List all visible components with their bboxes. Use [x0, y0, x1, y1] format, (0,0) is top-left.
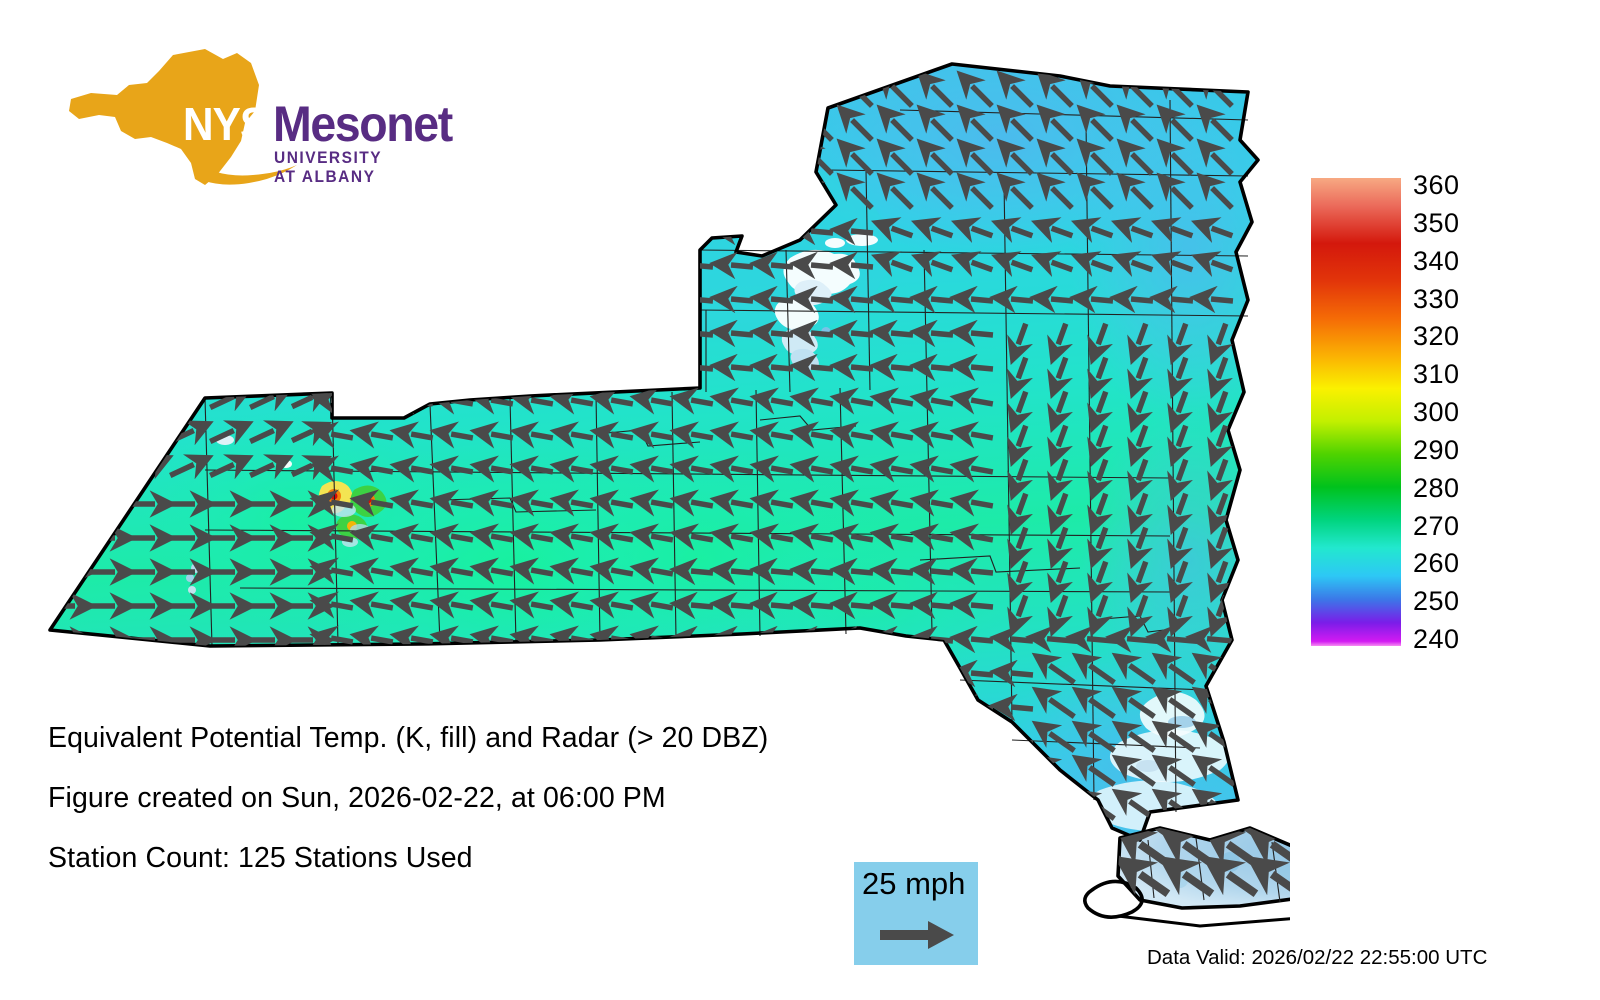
- wind-arrow: [331, 265, 353, 267]
- wind-arrow: [90, 329, 114, 340]
- wind-arrow: [772, 120, 792, 140]
- wind-arrow: [531, 468, 553, 472]
- colorbar-tick-360: 360: [1413, 172, 1460, 199]
- wind-arrow: [451, 333, 473, 335]
- wind-arrow: [612, 120, 632, 140]
- wind-arrow: [90, 227, 114, 238]
- wind-arrow: [691, 468, 713, 472]
- wind-arrow: [451, 434, 473, 438]
- wind-arrow: [371, 774, 393, 778]
- wind-arrow: [289, 192, 314, 204]
- wind-arrow: [572, 120, 592, 140]
- wind-arrow: [971, 502, 993, 506]
- wind-arrow: [451, 672, 473, 676]
- wind-arrow: [611, 265, 633, 267]
- wind-arrow: [371, 638, 393, 642]
- wind-arrow: [411, 468, 433, 472]
- wind-arrow: [531, 400, 553, 404]
- wind-arrow: [170, 227, 194, 238]
- wind-arrow: [531, 299, 553, 301]
- wind-arrow: [492, 120, 512, 140]
- wind-arrow: [371, 604, 393, 608]
- wind-arrow: [451, 706, 473, 710]
- wind-arrow: [891, 809, 913, 811]
- wind-arrow: [331, 536, 353, 540]
- wind-arrow: [811, 639, 833, 641]
- wind-arrow: [891, 502, 913, 506]
- logo-mesonet-text: Mesonet: [273, 95, 452, 153]
- wind-arrow: [691, 809, 713, 811]
- wind-arrow: [571, 299, 593, 301]
- wind-arrow-icon: [880, 918, 956, 952]
- wind-arrow: [491, 265, 513, 267]
- wind-arrow: [891, 333, 913, 335]
- wind-arrow: [1047, 639, 1077, 642]
- wind-arrow: [811, 571, 833, 573]
- wind-arrow: [931, 707, 953, 709]
- wind-arrow: [611, 570, 633, 574]
- wind-arrow: [1211, 299, 1233, 301]
- wind-arrow: [371, 468, 393, 472]
- wind-arrow: [1050, 801, 1075, 818]
- colorbar-tick-labels: 360350340330320310300290280270260250240: [1413, 172, 1533, 654]
- wind-arrow: [130, 363, 154, 374]
- wind-arrow: [130, 465, 154, 476]
- wind-arrow: [891, 639, 913, 641]
- wind-arrow: [611, 333, 633, 335]
- colorbar-tick-250: 250: [1413, 588, 1460, 615]
- wind-arrow: [572, 188, 592, 208]
- wind-arrow: [371, 536, 393, 540]
- wind-arrow: [651, 333, 673, 335]
- wind-arrow: [811, 367, 833, 369]
- colorbar: [1311, 178, 1401, 646]
- wind-arrow: [532, 188, 552, 208]
- wind-arrow: [1011, 639, 1033, 641]
- wind-arrow: [611, 468, 633, 472]
- wind-arrow: [651, 672, 673, 676]
- wind-arrow: [491, 706, 513, 710]
- wind-arrow: [931, 809, 953, 811]
- wind-arrow: [611, 604, 633, 608]
- wind-arrow: [331, 638, 353, 642]
- wind-arrow: [891, 434, 913, 438]
- wind-arrow: [731, 468, 753, 472]
- wind-arrow: [292, 227, 312, 236]
- wind-arrow: [652, 86, 672, 106]
- colorbar-tick-260: 260: [1413, 550, 1460, 577]
- wind-arrow: [731, 673, 753, 675]
- wind-arrow: [851, 502, 873, 506]
- wind-arrow: [249, 192, 274, 204]
- wind-arrow: [371, 706, 393, 710]
- wind-arrow: [971, 639, 993, 641]
- wind-arrow: [691, 299, 713, 301]
- wind-arrow: [771, 468, 793, 472]
- wind-arrow: [331, 774, 353, 778]
- wind-arrow: [731, 299, 753, 301]
- wind-arrow: [851, 333, 873, 335]
- wind-arrow: [250, 227, 274, 238]
- wind-arrow: [130, 431, 154, 442]
- wind-arrow: [691, 571, 713, 573]
- wind-arrow: [90, 431, 114, 442]
- wind-arrow: [851, 809, 873, 811]
- wind-arrow: [411, 706, 433, 710]
- wind-arrow: [1011, 775, 1033, 777]
- wind-arrow: [331, 468, 353, 472]
- wind-arrow: [491, 333, 513, 335]
- wind-arrow: [651, 299, 673, 301]
- wind-arrow: [851, 639, 873, 641]
- wind-arrow: [812, 86, 832, 106]
- wind-arrow: [451, 299, 473, 301]
- wind-arrow: [531, 231, 553, 233]
- wind-arrow: [1011, 707, 1033, 709]
- wind-arrow: [891, 741, 913, 743]
- wind-arrow: [611, 536, 633, 540]
- wind-arrow: [691, 231, 713, 233]
- wind-arrow: [931, 299, 953, 301]
- wind-arrow: [210, 329, 234, 340]
- wind-arrow: [731, 775, 753, 777]
- wind-arrow: [130, 227, 154, 238]
- wind-arrow: [331, 400, 353, 404]
- wind-arrow: [571, 604, 593, 608]
- wind-arrow: [1171, 299, 1193, 301]
- nys-mesonet-logo: NYS Mesonet UNIVERSITY AT ALBANY: [55, 45, 400, 185]
- colorbar-tick-300: 300: [1413, 399, 1460, 426]
- wind-arrow: [651, 367, 673, 369]
- wind-arrow: [971, 536, 993, 540]
- wind-arrow: [571, 400, 593, 404]
- wind-arrow: [771, 707, 793, 709]
- wind-speed-legend: 25 mph: [854, 862, 978, 965]
- wind-arrow: [250, 295, 274, 306]
- wind-arrow: [691, 400, 713, 404]
- wind-arrow: [452, 154, 472, 174]
- wind-arrow: [691, 265, 713, 267]
- wind-arrow: [771, 741, 793, 743]
- wind-arrow: [492, 154, 512, 174]
- wind-arrow: [931, 333, 953, 335]
- wind-arrow: [451, 570, 473, 574]
- wind-arrow: [811, 231, 833, 233]
- wind-arrow: [250, 363, 274, 374]
- wind-arrow: [90, 295, 114, 306]
- wind-arrow: [50, 431, 74, 442]
- wind-arrow: [851, 400, 873, 404]
- colorbar-tick-270: 270: [1413, 513, 1460, 540]
- wind-arrow: [771, 502, 793, 506]
- wind-arrow: [771, 673, 793, 675]
- wind-arrow: [971, 775, 993, 777]
- wind-arrow: [771, 775, 793, 777]
- wind-arrow: [1167, 639, 1197, 642]
- wind-arrow: [571, 570, 593, 574]
- wind-arrow: [971, 434, 993, 438]
- wind-arrow: [491, 434, 513, 438]
- colorbar-gradient: [1311, 178, 1401, 646]
- wind-arrow: [371, 367, 393, 369]
- wind-arrow: [1091, 299, 1113, 301]
- wind-arrow: [771, 434, 793, 438]
- wind-arrow: [451, 231, 473, 233]
- wind-arrow: [451, 536, 473, 540]
- wind-arrow: [1131, 299, 1153, 301]
- wind-arrow: [612, 86, 632, 106]
- wind-arrow: [491, 502, 513, 506]
- wind-arrow: [1011, 809, 1033, 811]
- wind-arrow: [491, 774, 513, 778]
- wind-arrow: [652, 188, 672, 208]
- wind-arrow: [691, 367, 713, 369]
- wind-arrow: [891, 605, 913, 607]
- wind-arrow: [611, 672, 633, 676]
- wind-arrow: [130, 329, 154, 340]
- wind-arrow: [531, 706, 553, 710]
- wind-arrow: [931, 434, 953, 438]
- wind-arrow: [331, 570, 353, 574]
- wind-arrow: [90, 363, 114, 374]
- wind-arrow: [371, 672, 393, 676]
- wind-arrow: [891, 468, 913, 472]
- wind-arrow: [651, 231, 673, 233]
- wind-arrow: [851, 741, 873, 743]
- wind-arrow: [851, 673, 873, 675]
- wind-arrow: [732, 86, 752, 106]
- wind-arrow: [571, 231, 593, 233]
- wind-arrow: [50, 295, 74, 306]
- wind-arrow: [572, 154, 592, 174]
- wind-arrow: [1272, 814, 1290, 834]
- wind-arrow: [491, 604, 513, 608]
- wind-arrow: [331, 333, 353, 335]
- wind-arrow: [931, 775, 953, 777]
- wind-arrow: [731, 231, 753, 233]
- colorbar-tick-350: 350: [1413, 210, 1460, 237]
- wind-arrow: [811, 707, 833, 709]
- wind-arrow: [732, 120, 752, 140]
- wind-arrow: [731, 571, 753, 573]
- wind-arrow: [731, 333, 753, 335]
- wind-arrow: [50, 397, 74, 408]
- wind-arrow: [811, 775, 833, 777]
- wind-arrow: [612, 154, 632, 174]
- wind-arrow: [971, 741, 993, 743]
- wind-arrow: [931, 367, 953, 369]
- wind-arrow: [652, 120, 672, 140]
- wind-arrow: [772, 154, 792, 174]
- wind-arrow: [531, 367, 553, 369]
- wind-arrow: [451, 638, 473, 642]
- wind-arrow: [571, 265, 593, 267]
- wind-arrow: [411, 502, 433, 506]
- wind-arrow: [411, 367, 433, 369]
- wind-arrow: [651, 570, 673, 574]
- wind-arrow: [851, 265, 873, 267]
- wind-arrow: [811, 468, 833, 472]
- wind-arrow: [811, 536, 833, 540]
- wind-arrow: [851, 468, 873, 472]
- wind-arrow: [771, 809, 793, 811]
- wind-arrow: [531, 774, 553, 778]
- wind-arrow: [571, 536, 593, 540]
- wind-speed-legend-label: 25 mph: [862, 866, 965, 902]
- wind-arrow: [210, 227, 234, 238]
- wind-arrow: [1011, 299, 1033, 301]
- wind-arrow: [90, 465, 114, 476]
- wind-arrow: [811, 265, 833, 267]
- wind-arrow: [691, 605, 713, 607]
- wind-arrow: [891, 367, 913, 369]
- wind-arrow: [1011, 673, 1033, 675]
- wind-arrow: [731, 502, 753, 506]
- wind-arrow: [451, 774, 473, 778]
- wind-arrow: [250, 261, 274, 272]
- wind-arrow: [771, 231, 793, 233]
- wind-arrow: [210, 261, 234, 272]
- wind-arrow: [931, 400, 953, 404]
- wind-arrow: [292, 295, 312, 304]
- wind-arrow: [651, 434, 673, 438]
- wind-arrow: [411, 333, 433, 335]
- colorbar-tick-310: 310: [1413, 361, 1460, 388]
- wind-arrow: [411, 299, 433, 301]
- wind-arrow: [731, 639, 753, 641]
- wind-arrow: [611, 231, 633, 233]
- wind-arrow: [971, 468, 993, 472]
- wind-arrow: [851, 775, 873, 777]
- wind-arrow: [371, 570, 393, 574]
- wind-arrow: [971, 367, 993, 369]
- wind-arrow: [1087, 639, 1117, 642]
- wind-arrow: [571, 502, 593, 506]
- wind-arrow: [331, 604, 353, 608]
- wind-arrow: [491, 638, 513, 642]
- wind-arrow: [811, 502, 833, 506]
- wind-arrow: [772, 188, 792, 208]
- wind-arrow: [611, 774, 633, 778]
- wind-arrow: [771, 571, 793, 573]
- wind-arrow: [331, 672, 353, 676]
- colorbar-tick-240: 240: [1413, 626, 1460, 653]
- figure-created-text: Figure created on Sun, 2026-02-22, at 06…: [48, 782, 666, 815]
- wind-arrow: [491, 570, 513, 574]
- wind-arrow: [492, 188, 512, 208]
- wind-arrow: [411, 570, 433, 574]
- wind-arrow: [411, 434, 433, 438]
- wind-arrow: [412, 188, 432, 208]
- wind-arrow: [611, 502, 633, 506]
- wind-arrow: [571, 434, 593, 438]
- wind-arrow: [412, 154, 432, 174]
- wind-arrow: [931, 673, 953, 675]
- wind-arrow: [331, 299, 353, 301]
- wind-arrow: [851, 605, 873, 607]
- wind-arrow: [331, 434, 353, 438]
- wind-arrow: [931, 502, 953, 506]
- wind-arrow: [411, 231, 433, 233]
- wind-arrow: [891, 707, 913, 709]
- station-count-text: Station Count: 125 Stations Used: [48, 842, 473, 875]
- wind-arrow: [731, 367, 753, 369]
- wind-arrow: [491, 536, 513, 540]
- wind-arrow: [691, 775, 713, 777]
- wind-arrow: [692, 120, 712, 140]
- colorbar-tick-340: 340: [1413, 248, 1460, 275]
- wind-arrow: [331, 706, 353, 710]
- wind-arrow: [531, 604, 553, 608]
- wind-arrow: [89, 192, 114, 204]
- wind-arrow: [491, 400, 513, 404]
- wind-arrow: [90, 397, 114, 408]
- wind-arrow: [651, 468, 673, 472]
- wind-arrow: [371, 400, 393, 404]
- wind-arrow: [170, 261, 194, 272]
- wind-arrow: [411, 265, 433, 267]
- wind-arrow: [50, 363, 74, 374]
- data-valid-timestamp: Data Valid: 2026/02/22 22:55:00 UTC: [1147, 946, 1487, 970]
- wind-arrow: [170, 329, 194, 340]
- wind-arrow: [652, 154, 672, 174]
- colorbar-tick-280: 280: [1413, 475, 1460, 502]
- wind-arrow: [811, 299, 833, 301]
- wind-arrow: [50, 329, 74, 340]
- wind-arrow: [611, 706, 633, 710]
- wind-arrow: [692, 154, 712, 174]
- wind-arrow: [851, 571, 873, 573]
- wind-arrow: [851, 707, 873, 709]
- wind-arrow: [971, 605, 993, 607]
- wind-arrow: [531, 265, 553, 267]
- wind-arrow: [130, 261, 154, 272]
- wind-arrow: [651, 706, 673, 710]
- wind-arrow: [492, 86, 512, 106]
- colorbar-tick-290: 290: [1413, 437, 1460, 464]
- wind-arrow: [452, 120, 472, 140]
- wind-arrow: [371, 231, 393, 233]
- wind-arrow: [931, 468, 953, 472]
- wind-arrow: [931, 536, 953, 540]
- wind-arrow: [50, 261, 74, 272]
- logo-nys-text: NYS: [183, 97, 267, 151]
- wind-arrow: [90, 261, 114, 272]
- wind-arrow: [931, 741, 953, 743]
- wind-arrow: [811, 434, 833, 438]
- wind-arrow: [651, 774, 673, 778]
- wind-arrow: [451, 468, 473, 472]
- wind-arrow: [50, 227, 74, 238]
- wind-arrow: [451, 604, 473, 608]
- wind-arrow: [491, 468, 513, 472]
- wind-arrow: [491, 672, 513, 676]
- wind-arrow: [292, 329, 312, 338]
- wind-arrow: [210, 363, 234, 374]
- wind-arrow: [331, 367, 353, 369]
- wind-arrow: [931, 571, 953, 573]
- wind-arrow: [491, 231, 513, 233]
- wind-arrow: [331, 231, 353, 233]
- wind-arrow: [532, 154, 552, 174]
- wind-arrow: [371, 434, 393, 438]
- wind-arrow: [851, 434, 873, 438]
- wind-arrow: [531, 536, 553, 540]
- wind-arrow: [731, 265, 753, 267]
- wind-arrow: [169, 192, 194, 204]
- wind-arrow: [651, 400, 673, 404]
- wind-arrow: [1127, 639, 1157, 642]
